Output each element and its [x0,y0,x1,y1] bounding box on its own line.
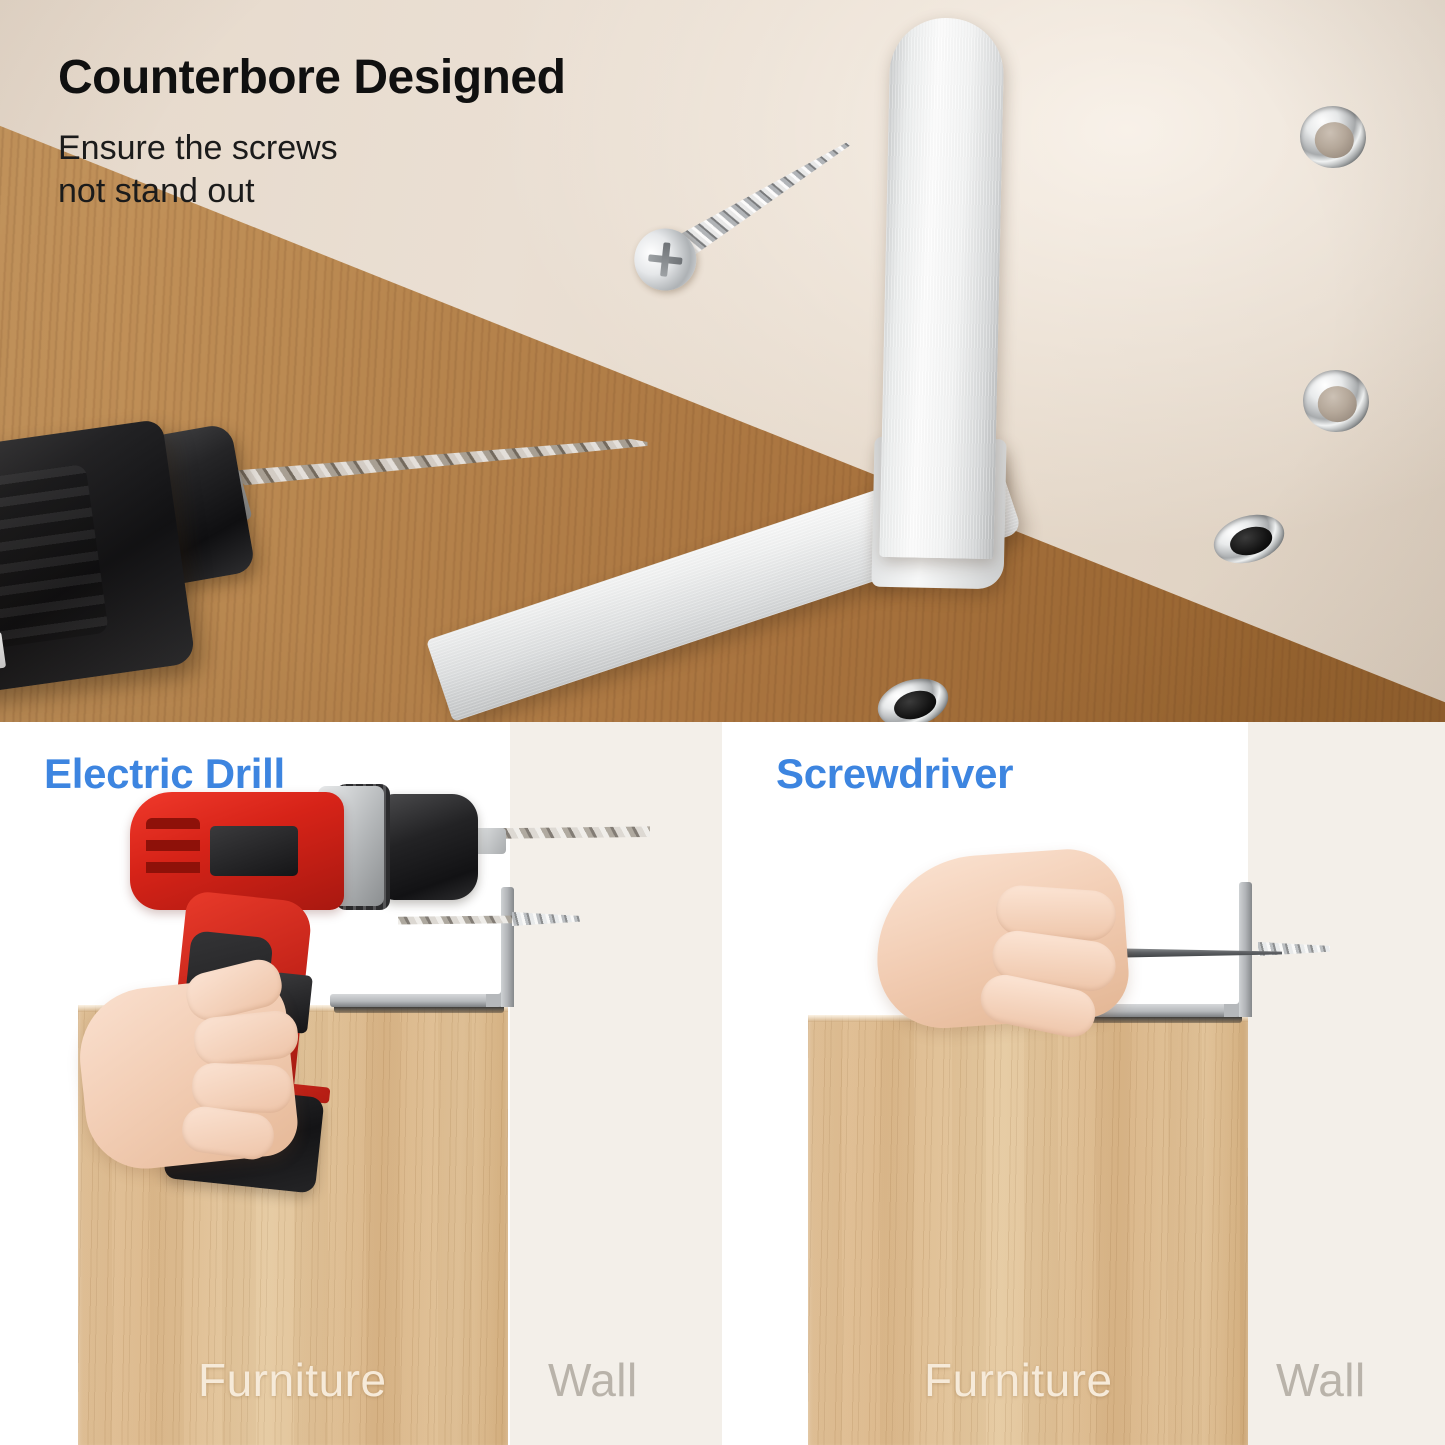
panel-screwdriver: Screwdriver Furniture Wall [736,722,1445,1445]
hero-photo: Counterbore Designed Ensure the screws n… [0,0,1445,722]
furniture-label: Furniture [198,1353,387,1407]
furniture-label: Furniture [924,1353,1113,1407]
comparison-panels: Electric Drill Furniture Wall [0,722,1445,1445]
hero-title: Counterbore Designed [58,52,818,105]
drill-body [130,792,344,910]
product-infographic: Counterbore Designed Ensure the screws n… [0,0,1445,1445]
panel-electric-drill: Electric Drill Furniture Wall [0,722,722,1445]
hand [876,844,1176,1074]
drill-chuck [380,794,478,900]
panel-title: Screwdriver [776,750,1013,798]
hand [82,960,332,1190]
wall-label: Wall [548,1353,638,1407]
hero-text-block: Counterbore Designed Ensure the screws n… [58,52,818,214]
wall-label: Wall [1276,1353,1366,1407]
panel-title: Electric Drill [44,750,285,798]
drill-vent [146,818,200,882]
drill-display [210,826,298,876]
wall-zone [1248,722,1445,1445]
hero-subtitle: Ensure the screws not stand out [58,127,818,214]
bracket-vertical-leg [501,887,514,1007]
